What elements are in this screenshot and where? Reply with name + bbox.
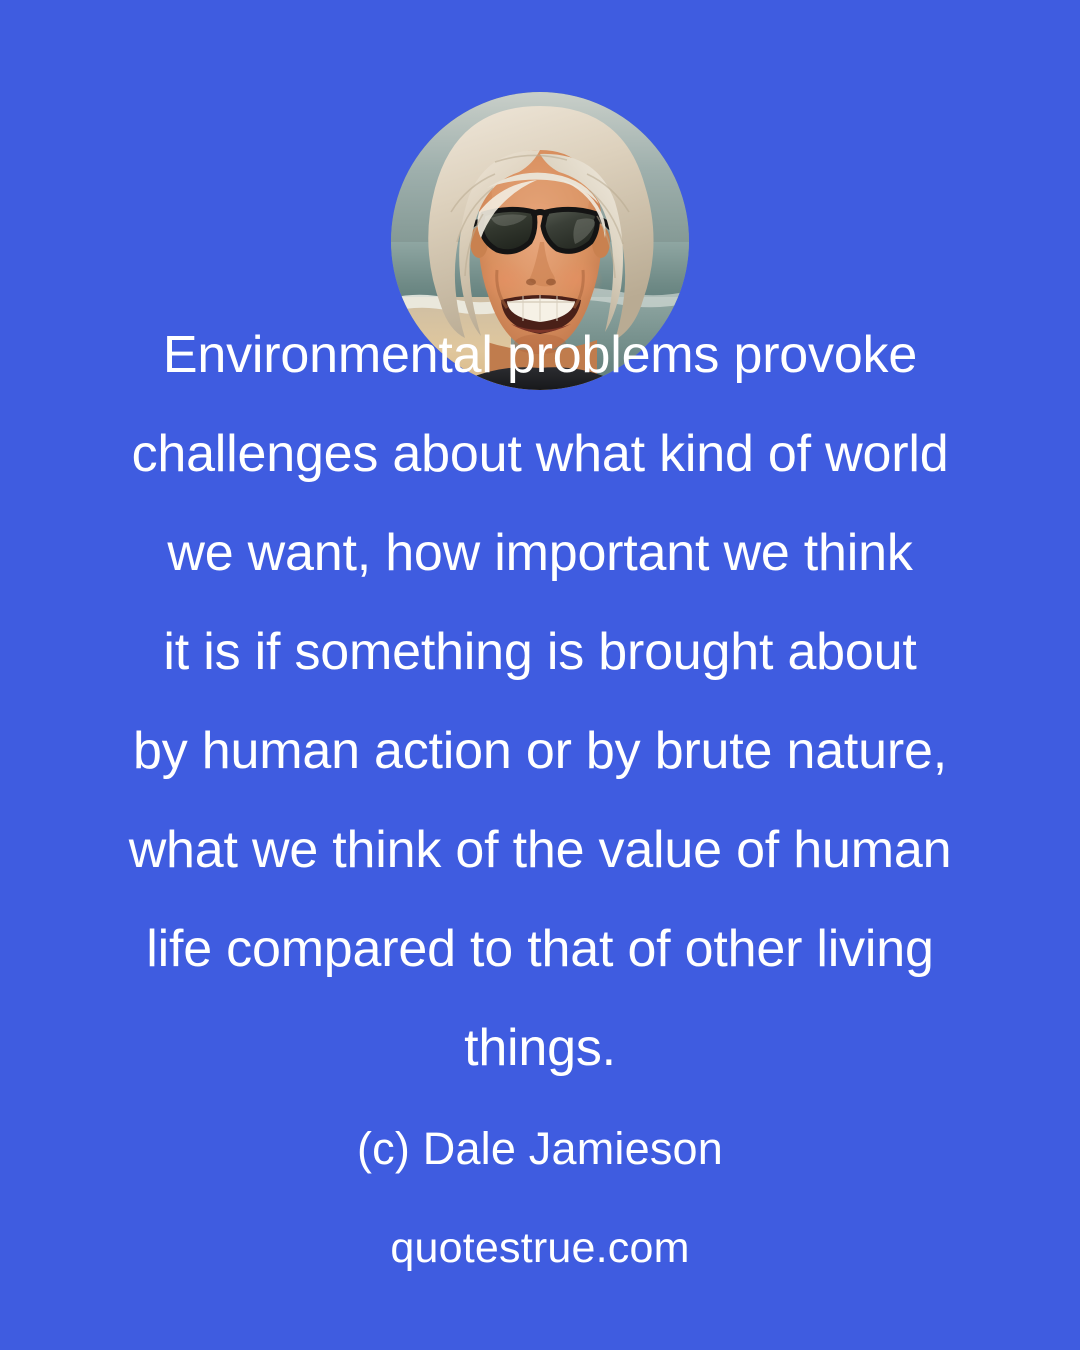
- quote-attribution: (c) Dale Jamieson: [0, 1118, 1080, 1180]
- source-website: quotestrue.com: [0, 1218, 1080, 1278]
- quote-card: Environmental problems provoke challenge…: [0, 0, 1080, 1350]
- quote-text: Environmental problems provoke challenge…: [0, 306, 1080, 1098]
